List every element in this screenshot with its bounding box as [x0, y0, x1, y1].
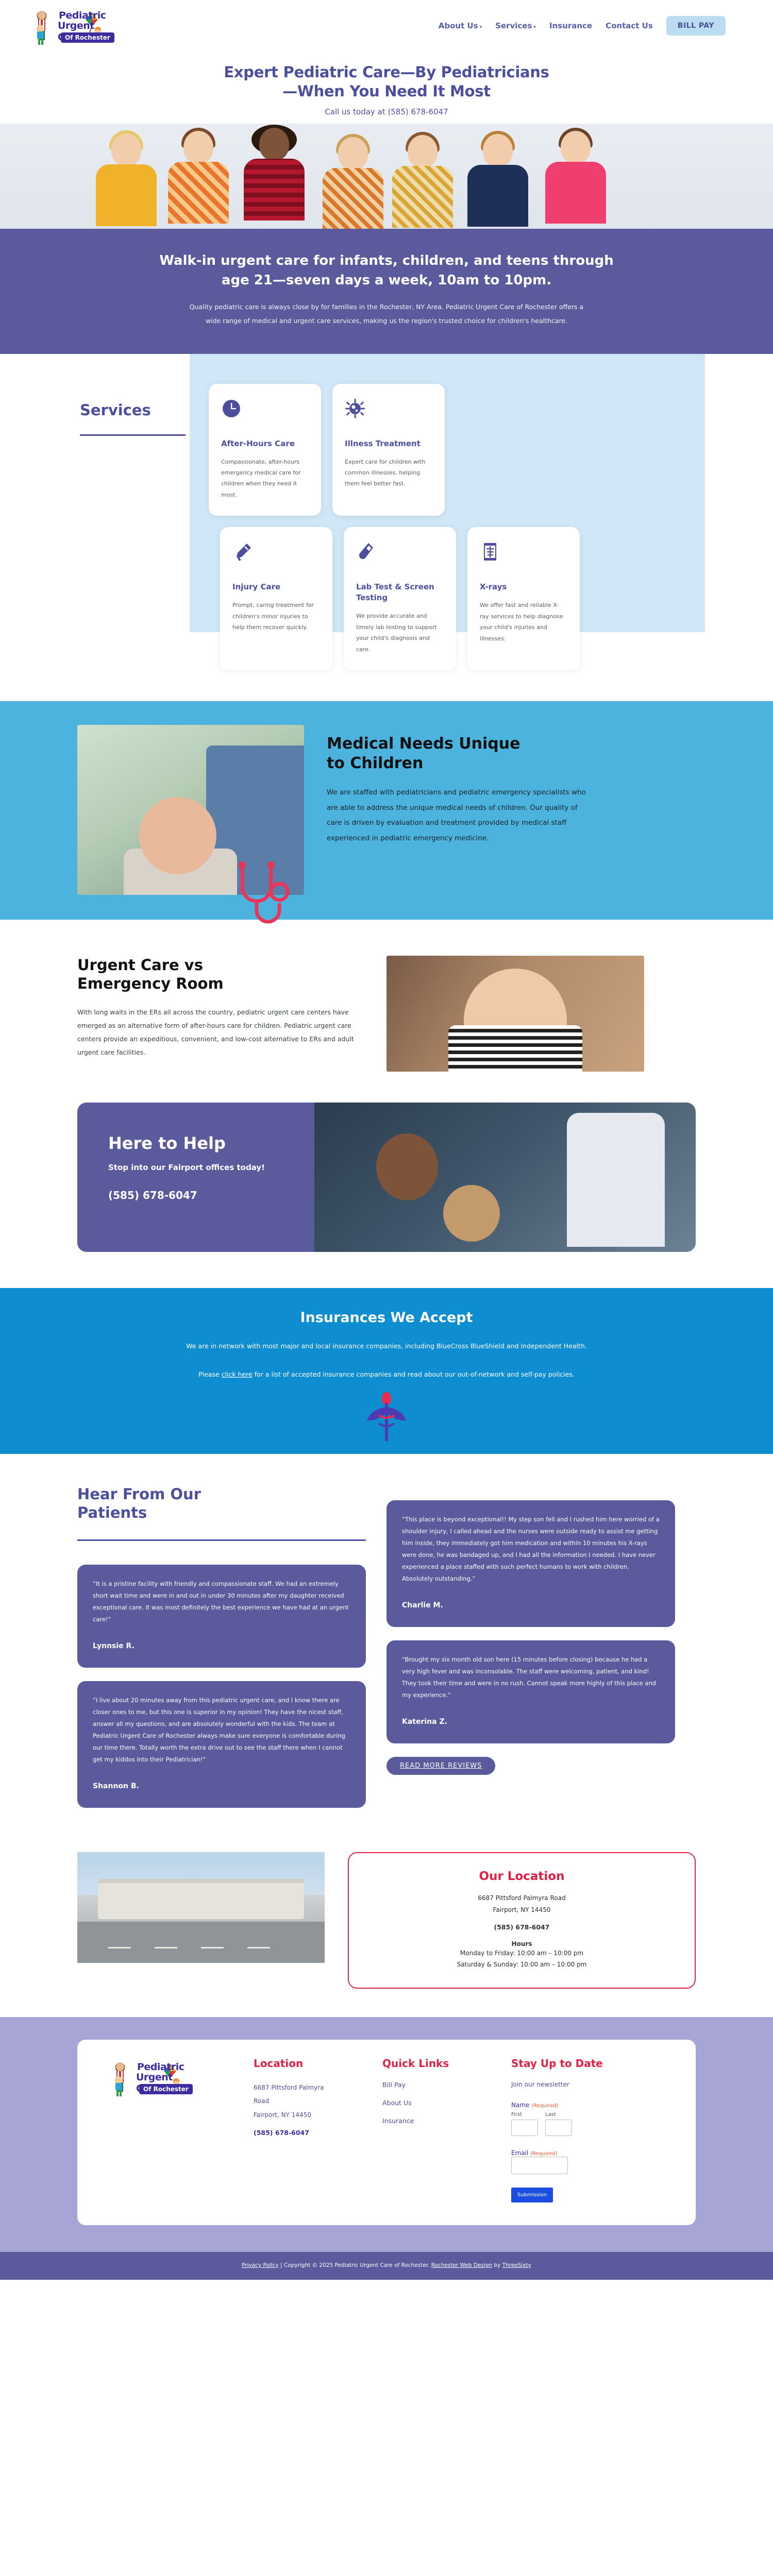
here-to-help-subtitle: Stop into our Fairport offices today!: [108, 1162, 289, 1174]
service-body: Prompt, caring treatment for children's …: [232, 600, 320, 633]
site-footer: Pediatric Urgent Care Of Rochester Locat…: [0, 2017, 773, 2252]
footer-phone[interactable]: (585) 678-6047: [254, 2129, 382, 2137]
footer-submit-button[interactable]: Submission: [511, 2188, 553, 2202]
medical-needs-title-line2: to Children: [327, 754, 423, 772]
footer-last-name-input[interactable]: [545, 2120, 572, 2136]
footer-newsletter-heading: Stay Up to Date: [511, 2057, 666, 2070]
virus-icon: [345, 398, 432, 422]
footer-logo[interactable]: Pediatric Urgent Care Of Rochester: [108, 2057, 198, 2097]
here-to-help-phone[interactable]: (585) 678-6047: [108, 1189, 289, 1201]
page-root: Pediatric Urgent Care Of Rochester About…: [0, 0, 773, 2280]
footer-last-name-label: Last: [545, 2112, 572, 2117]
testimonial-card: “It is a pristine facility with friendly…: [77, 1565, 366, 1668]
chevron-down-icon: ▾: [480, 25, 482, 30]
service-title: Injury Care: [232, 582, 320, 592]
child-5: [392, 135, 453, 229]
testimonial-card: “Brought my six month old son here (15 m…: [386, 1640, 675, 1743]
ucvser-title: Urgent Care vs Emergency Room: [77, 956, 356, 993]
footer-email-required: (Required): [530, 2151, 557, 2157]
location-heading: Our Location: [364, 1870, 679, 1883]
testimonial-author: Katerina Z.: [402, 1718, 660, 1726]
here-to-help-section: Here to Help Stop into our Fairport offi…: [0, 1097, 773, 1288]
services-card-row-2: Injury Care Prompt, caring treatment for…: [0, 516, 773, 670]
insurance-line2-pre: Please: [198, 1370, 222, 1378]
testimonials-heading-line2: Patients: [77, 1504, 147, 1521]
copyright-text: Copyright © 2025 Pediatric Urgent Care o…: [284, 2262, 431, 2268]
testimonial-quote: “I live about 20 minutes away from this …: [93, 1694, 350, 1766]
clock-icon: [221, 398, 309, 422]
ucvser-title-line1: Urgent Care vs: [77, 956, 203, 974]
crutch-icon: [232, 541, 320, 565]
location-address: 6687 Pittsford Palmyra Road Fairport, NY…: [364, 1892, 679, 1916]
insurance-line2-post: for a list of accepted insurance compani…: [253, 1370, 575, 1378]
child-7: [544, 131, 608, 229]
nav-item-contact-us[interactable]: Contact Us: [606, 21, 653, 30]
footer-location-line2: Road: [254, 2094, 382, 2108]
location-address-line2: Fairport, NY 14450: [493, 1906, 551, 1913]
legal-bar: Privacy Policy | Copyright © 2025 Pediat…: [0, 2252, 773, 2280]
services-heading: Services: [80, 401, 209, 419]
medical-needs-section: Medical Needs Unique to Children We are …: [0, 701, 773, 920]
child-1: [95, 133, 157, 229]
footer-name-required: (Required): [531, 2103, 558, 2109]
ucvser-body: With long waits in the ERs all across th…: [77, 1006, 356, 1060]
service-title: X-rays: [480, 582, 567, 592]
service-card-illness-treatment[interactable]: Illness Treatment Expert care for childr…: [332, 384, 445, 516]
banner-heading-line2: age 21—seven days a week, 10am to 10pm.: [222, 273, 551, 288]
hero-title-line2: —When You Need It Most: [282, 82, 491, 100]
banner-heading: Walk-in urgent care for infants, childre…: [129, 251, 644, 290]
service-title: Illness Treatment: [345, 438, 432, 449]
testimonials-heading-line1: Hear From Our: [77, 1485, 201, 1503]
service-card-injury-care[interactable]: Injury Care Prompt, caring treatment for…: [220, 527, 332, 670]
threesixty-link[interactable]: ThreeSixty: [502, 2262, 531, 2268]
nav-item-insurance[interactable]: Insurance: [549, 21, 592, 30]
footer-location-line3: Fairport, NY 14450: [254, 2108, 382, 2122]
urgent-care-vs-er-section: Urgent Care vs Emergency Room With long …: [0, 920, 773, 1097]
testimonial-author: Charlie M.: [402, 1601, 660, 1609]
logo-text-line1: Pediatric: [59, 10, 106, 21]
location-phone[interactable]: (585) 678-6047: [364, 1923, 679, 1931]
site-logo[interactable]: Pediatric Urgent Care Of Rochester: [30, 6, 120, 46]
service-body: We offer fast and reliable X-ray service…: [480, 600, 567, 644]
insurance-line1: We are in network with most major and lo…: [0, 1339, 773, 1354]
clinic-exterior-photo: [77, 1852, 325, 1963]
hero-title-line1: Expert Pediatric Care—By Pediatricians: [224, 63, 549, 81]
footer-quick-links-column: Quick Links Bill Pay About Us Insurance: [382, 2057, 511, 2202]
chevron-down-icon: ▾: [533, 25, 536, 30]
location-card: Our Location 6687 Pittsford Palmyra Road…: [348, 1852, 696, 1989]
testimonials-section: Hear From Our Patients “It is a pristine…: [0, 1454, 773, 1842]
service-title: After-Hours Care: [221, 438, 309, 449]
xray-icon: [480, 541, 567, 565]
footer-newsletter-column: Stay Up to Date Join our newsletter Name…: [511, 2057, 666, 2202]
testimonials-rule: [77, 1539, 366, 1541]
footer-logo-column: Pediatric Urgent Care Of Rochester: [99, 2057, 254, 2202]
services-card-row-1: After-Hours Care Compassionate, after-ho…: [209, 384, 569, 516]
footer-quick-links-heading: Quick Links: [382, 2057, 511, 2070]
logo-badge: Of Rochester: [139, 2084, 193, 2094]
intro-banner: Walk-in urgent care for infants, childre…: [0, 229, 773, 353]
logo-badge: Of Rochester: [61, 32, 114, 43]
footer-email-input[interactable]: [511, 2157, 568, 2174]
read-more-reviews-button[interactable]: READ MORE REVIEWS: [386, 1757, 495, 1775]
banner-paragraph: Quality pediatric care is always close b…: [129, 300, 644, 328]
medical-needs-body: We are staffed with pediatricians and pe…: [327, 785, 590, 846]
footer-newsletter-subtitle: Join our newsletter: [511, 2081, 666, 2088]
service-title: Lab Test & Screen Testing: [356, 582, 444, 603]
service-body: We provide accurate and timely lab testi…: [356, 611, 444, 655]
logo-text-line1: Pediatric: [137, 2061, 184, 2073]
location-section: Our Location 6687 Pittsford Palmyra Road…: [0, 1842, 773, 2017]
testimonial-author: Lynnsie R.: [93, 1642, 350, 1650]
footer-location-heading: Location: [254, 2057, 382, 2070]
caduceus-icon: [358, 1389, 415, 1446]
test-tube-icon: [356, 541, 444, 565]
service-card-after-hours-care[interactable]: After-Hours Care Compassionate, after-ho…: [209, 384, 321, 516]
child-4: [322, 137, 384, 229]
child-2: [167, 131, 229, 229]
hero-title: Expert Pediatric Care—By Pediatricians —…: [0, 63, 773, 101]
testimonial-author: Shannon B.: [93, 1782, 350, 1790]
medical-needs-title-line1: Medical Needs Unique: [327, 735, 520, 753]
services-section: Services After-Hours Care Compassionate,…: [0, 354, 773, 702]
insurance-section: Insurances We Accept We are in network w…: [0, 1288, 773, 1454]
legal-separator: |: [279, 2262, 284, 2268]
hero-subtitle: Call us today at (585) 678-6047: [0, 107, 773, 116]
doctor-examining-baby-photo: [77, 725, 304, 895]
testimonial-card: “This place is beyond exceptional!! My s…: [386, 1500, 675, 1627]
service-body: Compassionate, after-hours emergency med…: [221, 456, 309, 501]
footer-email-label: Email (Required): [511, 2149, 666, 2157]
testimonial-quote: “It is a pristine facility with friendly…: [93, 1578, 350, 1625]
insurance-heading: Insurances We Accept: [0, 1310, 773, 1326]
main-navigation: About Us▾ Services▾ Insurance Contact Us…: [439, 16, 773, 36]
rochester-web-design-link[interactable]: Rochester Web Design: [431, 2262, 492, 2268]
legal-by: by: [492, 2262, 502, 2268]
banner-paragraph-line1: Quality pediatric care is always close b…: [190, 303, 583, 311]
insurance-line2: Please click here for a list of accepted…: [0, 1367, 773, 1382]
footer-link-about-us[interactable]: About Us: [382, 2099, 511, 2107]
footer-link-bill-pay[interactable]: Bill Pay: [382, 2081, 511, 2089]
services-rule: [80, 434, 186, 436]
privacy-policy-link[interactable]: Privacy Policy: [242, 2262, 279, 2268]
nav-item-services[interactable]: Services▾: [495, 21, 536, 30]
location-hours-weekday: Monday to Friday: 10:00 am – 10:00 pm: [364, 1947, 679, 1959]
footer-location-column: Location 6687 Pittsford Palmyra Road Fai…: [254, 2057, 382, 2202]
testimonials-heading: Hear From Our Patients: [77, 1485, 366, 1522]
insurance-click-here-link[interactable]: click here: [222, 1370, 253, 1378]
banner-heading-line1: Walk-in urgent care for infants, childre…: [159, 253, 613, 268]
services-heading-block: Services: [80, 384, 209, 516]
child-3: [242, 128, 306, 229]
footer-name-label: Name (Required): [511, 2102, 666, 2109]
footer-link-insurance[interactable]: Insurance: [382, 2117, 511, 2125]
hero-section: Expert Pediatric Care—By Pediatricians —…: [0, 52, 773, 124]
testimonial-card: “I live about 20 minutes away from this …: [77, 1681, 366, 1808]
service-card-lab-test-screen-testing[interactable]: Lab Test & Screen Testing We provide acc…: [344, 527, 456, 670]
ucvser-title-line2: Emergency Room: [77, 975, 224, 992]
site-header: Pediatric Urgent Care Of Rochester About…: [0, 0, 773, 52]
here-to-help-title: Here to Help: [108, 1133, 289, 1153]
medical-needs-title: Medical Needs Unique to Children: [327, 734, 590, 773]
location-hours-weekend: Saturday & Sunday: 10:00 am – 10:00 pm: [364, 1959, 679, 1970]
nav-item-about-us[interactable]: About Us▾: [439, 21, 482, 30]
hero-children-photo: [0, 124, 773, 229]
testimonial-quote: “Brought my six month old son here (15 m…: [402, 1654, 660, 1701]
service-card-xrays[interactable]: X-rays We offer fast and reliable X-ray …: [467, 527, 580, 670]
bill-pay-button[interactable]: BILL PAY: [666, 16, 726, 36]
location-hours-label: Hours: [364, 1940, 679, 1947]
footer-location-line1: 6687 Pittsford Palmyra: [254, 2081, 382, 2094]
location-address-line1: 6687 Pittsford Palmyra Road: [478, 1894, 565, 1902]
doctor-with-child-photo: [314, 1103, 696, 1252]
child-6: [466, 134, 529, 229]
testimonial-quote: “This place is beyond exceptional!! My s…: [402, 1514, 660, 1585]
banner-paragraph-line2: wide range of medical and urgent care se…: [206, 317, 567, 325]
child-eating-photo: [386, 956, 644, 1072]
service-body: Expert care for children with common ill…: [345, 456, 432, 489]
footer-first-name-label: First: [511, 2112, 538, 2117]
footer-first-name-input[interactable]: [511, 2120, 538, 2136]
